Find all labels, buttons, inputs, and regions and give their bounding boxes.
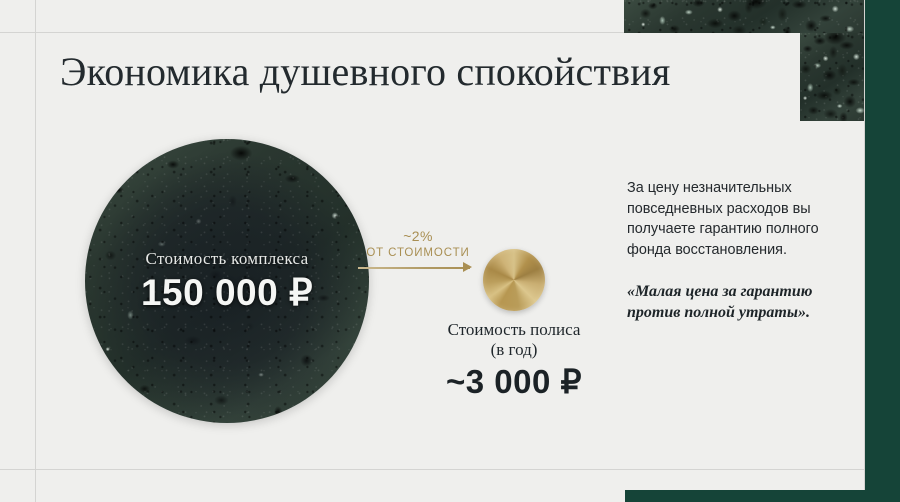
pull-quote: «Малая цена за гарантию против полной ут… <box>627 282 837 322</box>
policy-caption-line2: (в год) <box>408 340 620 360</box>
green-band-bottom <box>625 490 865 502</box>
right-text-column: За цену незначительных повседневных расх… <box>627 178 837 323</box>
cost-circle: Стоимость комплекса 150 000 ₽ <box>85 139 369 423</box>
arrow-head-icon <box>463 262 472 272</box>
ratio-percent-label: ~2% <box>358 228 478 244</box>
gold-sphere-icon <box>483 249 545 311</box>
explanatory-paragraph: За цену незначительных повседневных расх… <box>627 178 837 260</box>
granite-block-right <box>800 33 864 121</box>
grid-line-vertical-left <box>35 0 36 502</box>
policy-caption-line1: Стоимость полиса <box>408 320 620 340</box>
slide-canvas: Экономика душевного спокойствия Стоимост… <box>0 0 900 502</box>
cost-circle-label: Стоимость комплекса <box>141 249 313 269</box>
cost-circle-text: Стоимость комплекса 150 000 ₽ <box>141 249 313 314</box>
arrow-line-icon <box>358 267 470 269</box>
ratio-arrow-group: ~2% от стоимости <box>358 228 478 259</box>
granite-block-top <box>624 0 864 33</box>
ratio-percent-sublabel: от стоимости <box>358 247 478 259</box>
cost-circle-value: 150 000 ₽ <box>141 271 313 314</box>
grid-line-horizontal-bottom <box>0 469 900 470</box>
policy-caption: Стоимость полиса (в год) <box>408 320 620 360</box>
policy-value: ~3 000 ₽ <box>408 362 620 401</box>
green-band-right <box>865 0 900 502</box>
page-title: Экономика душевного спокойствия <box>60 48 670 95</box>
